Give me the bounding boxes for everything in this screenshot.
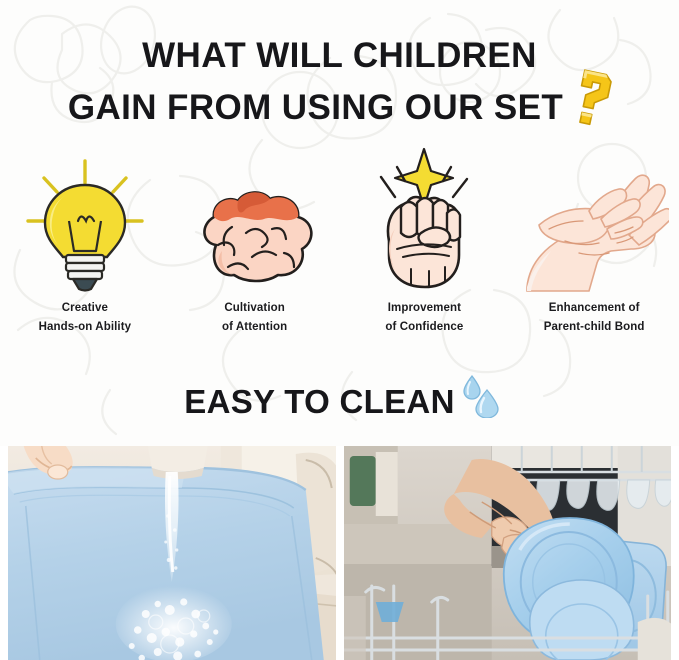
benefit-label-line2: of Attention bbox=[222, 318, 287, 337]
benefit-label-line2: Hands-on Ability bbox=[39, 318, 132, 337]
easy-to-clean-text: EASY TO CLEAN bbox=[184, 383, 454, 420]
rinsing-placemat-photo bbox=[8, 446, 336, 660]
benefit-label-line1: Cultivation bbox=[224, 302, 285, 314]
benefits-row: Creative Hands-on Ability bbox=[0, 145, 679, 340]
two-hands-icon bbox=[519, 169, 669, 293]
brain-icon bbox=[188, 181, 322, 293]
benefit-label: Enhancement of Parent-child Bond bbox=[544, 299, 645, 337]
lightbulb-icon bbox=[22, 151, 148, 293]
water-droplets-icon bbox=[461, 374, 499, 418]
main-heading: WHAT WILL CHILDREN GAIN FROM USING OUR S… bbox=[0, 30, 679, 134]
benefit-label-line2: of Confidence bbox=[385, 318, 463, 337]
benefit-label-line1: Enhancement of bbox=[549, 302, 640, 314]
benefit-art bbox=[509, 145, 679, 293]
benefit-label: Improvement of Confidence bbox=[385, 299, 463, 337]
benefit-item-creative: Creative Hands-on Ability bbox=[0, 145, 170, 340]
benefit-art bbox=[340, 145, 510, 293]
benefit-item-parent-child: Enhancement of Parent-child Bond bbox=[509, 145, 679, 340]
benefit-item-attention: Cultivation of Attention bbox=[170, 145, 340, 340]
heading-line-2-text: GAIN FROM USING OUR SET bbox=[68, 88, 563, 127]
benefit-label-line2: Parent-child Bond bbox=[544, 318, 645, 337]
benefit-art bbox=[0, 145, 170, 293]
dishwasher-photo bbox=[344, 446, 672, 660]
raised-fist-icon bbox=[361, 145, 487, 293]
benefit-label: Creative Hands-on Ability bbox=[39, 299, 132, 337]
benefit-label: Cultivation of Attention bbox=[222, 299, 287, 337]
benefit-label-line1: Improvement bbox=[388, 302, 461, 314]
benefit-label-line1: Creative bbox=[62, 302, 108, 314]
easy-to-clean-heading: EASY TO CLEAN bbox=[0, 382, 679, 422]
benefit-art bbox=[170, 145, 340, 293]
heading-line-2-wrap: GAIN FROM USING OUR SET bbox=[68, 82, 611, 134]
benefit-item-confidence: Improvement of Confidence bbox=[340, 145, 510, 340]
question-mark-icon bbox=[567, 68, 615, 130]
product-infographic: WHAT WILL CHILDREN GAIN FROM USING OUR S… bbox=[0, 0, 679, 660]
photo-strip bbox=[0, 446, 679, 660]
